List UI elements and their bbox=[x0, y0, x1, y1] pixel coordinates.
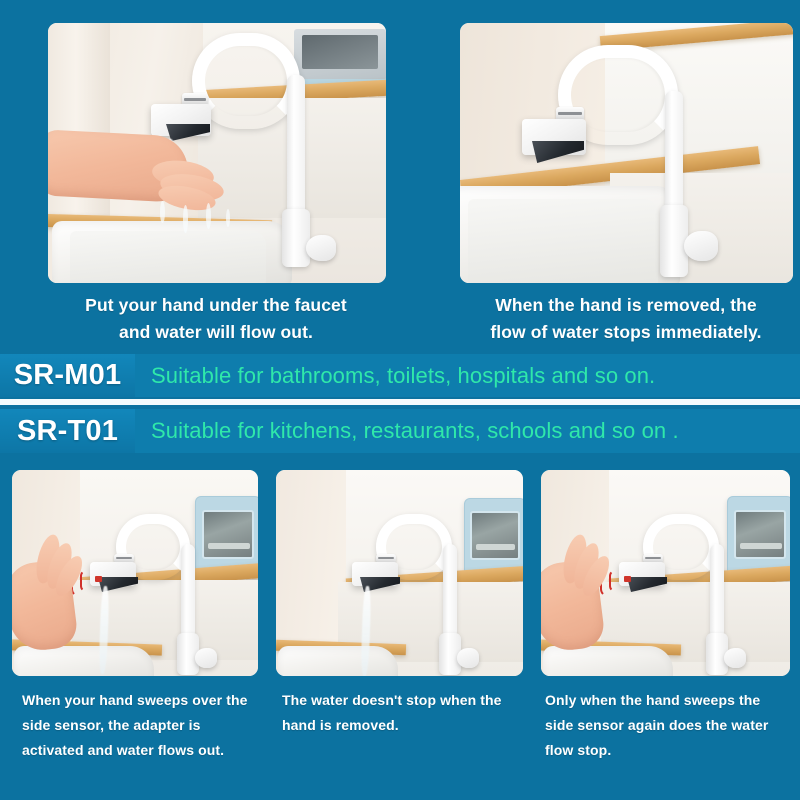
caption-line-1: Put your hand under the faucet bbox=[38, 292, 394, 319]
scene-kitchen-2 bbox=[460, 23, 793, 283]
model-band-sr-t01: SR-T01 Suitable for kitchens, restaurant… bbox=[0, 409, 800, 453]
sink-inner bbox=[468, 199, 658, 283]
caption-bottom-right: Only when the hand sweeps the side senso… bbox=[545, 688, 790, 763]
sensor-adapter bbox=[518, 107, 598, 173]
sensor-adapter bbox=[350, 554, 406, 598]
section-divider bbox=[0, 399, 800, 405]
faucet-column bbox=[443, 544, 457, 638]
photo-hand-removed-water-continues bbox=[276, 470, 523, 676]
caption-bottom-left: When your hand sweeps over the side sens… bbox=[22, 688, 262, 763]
appliance-shelf bbox=[476, 544, 516, 549]
caption-top-left: Put your hand under the faucet and water… bbox=[38, 292, 394, 345]
adapter-led-icon bbox=[624, 576, 631, 582]
faucet-base bbox=[282, 209, 310, 267]
sensor-adapter bbox=[617, 554, 673, 598]
faucet-column bbox=[181, 544, 195, 638]
hand bbox=[12, 532, 98, 652]
hand bbox=[48, 127, 246, 227]
faucet-column bbox=[665, 91, 683, 211]
scene-kitchen-4 bbox=[276, 470, 523, 676]
water-droplet-1 bbox=[160, 201, 165, 223]
appliance-shelf bbox=[208, 543, 250, 549]
faucet-handle bbox=[724, 648, 746, 668]
faucet-handle bbox=[306, 235, 336, 261]
caption-line-2: and water will flow out. bbox=[38, 319, 394, 346]
water-droplet-4 bbox=[226, 209, 230, 227]
photo-hand-under-faucet-water-on bbox=[48, 23, 386, 283]
caption-line-2: flow of water stops immediately. bbox=[448, 319, 800, 346]
faucet-handle bbox=[457, 648, 479, 668]
faucet-column bbox=[287, 75, 305, 215]
water-droplet-3 bbox=[206, 203, 211, 229]
adapter-sensor-window bbox=[627, 577, 667, 592]
faucet-handle bbox=[195, 648, 217, 668]
hand bbox=[541, 532, 625, 652]
model-badge-sr-t01: SR-T01 bbox=[0, 409, 135, 453]
scene-kitchen-1 bbox=[48, 23, 386, 283]
infographic-page: Put your hand under the faucet and water… bbox=[0, 0, 800, 800]
appliance-glass bbox=[470, 511, 519, 559]
caption-line-1: When the hand is removed, the bbox=[448, 292, 800, 319]
caption-bottom-middle: The water doesn't stop when the hand is … bbox=[282, 688, 527, 738]
appliance-glass bbox=[734, 510, 786, 560]
model-badge-sr-m01: SR-M01 bbox=[0, 354, 135, 397]
sink-inner bbox=[70, 231, 266, 283]
photo-faucet-no-hand-water-off bbox=[460, 23, 793, 283]
photo-hand-sweeps-again-water-stops bbox=[541, 470, 790, 676]
model-description-sr-t01: Suitable for kitchens, restaurants, scho… bbox=[151, 418, 679, 444]
appliance-glass bbox=[202, 510, 254, 560]
water-droplet-2 bbox=[183, 205, 188, 233]
appliance-shelf bbox=[740, 543, 782, 549]
caption-top-right: When the hand is removed, the flow of wa… bbox=[448, 292, 800, 345]
background-appliance-glass bbox=[302, 35, 378, 69]
faucet-column bbox=[710, 544, 724, 638]
sink-basin bbox=[278, 646, 398, 676]
scene-kitchen-3 bbox=[12, 470, 258, 676]
model-description-sr-m01: Suitable for bathrooms, toilets, hospita… bbox=[151, 363, 655, 389]
scene-kitchen-5 bbox=[541, 470, 790, 676]
faucet-handle bbox=[684, 231, 718, 261]
photo-hand-sweeps-side-sensor-water-on bbox=[12, 470, 258, 676]
model-band-sr-m01: SR-M01 Suitable for bathrooms, toilets, … bbox=[0, 354, 800, 397]
